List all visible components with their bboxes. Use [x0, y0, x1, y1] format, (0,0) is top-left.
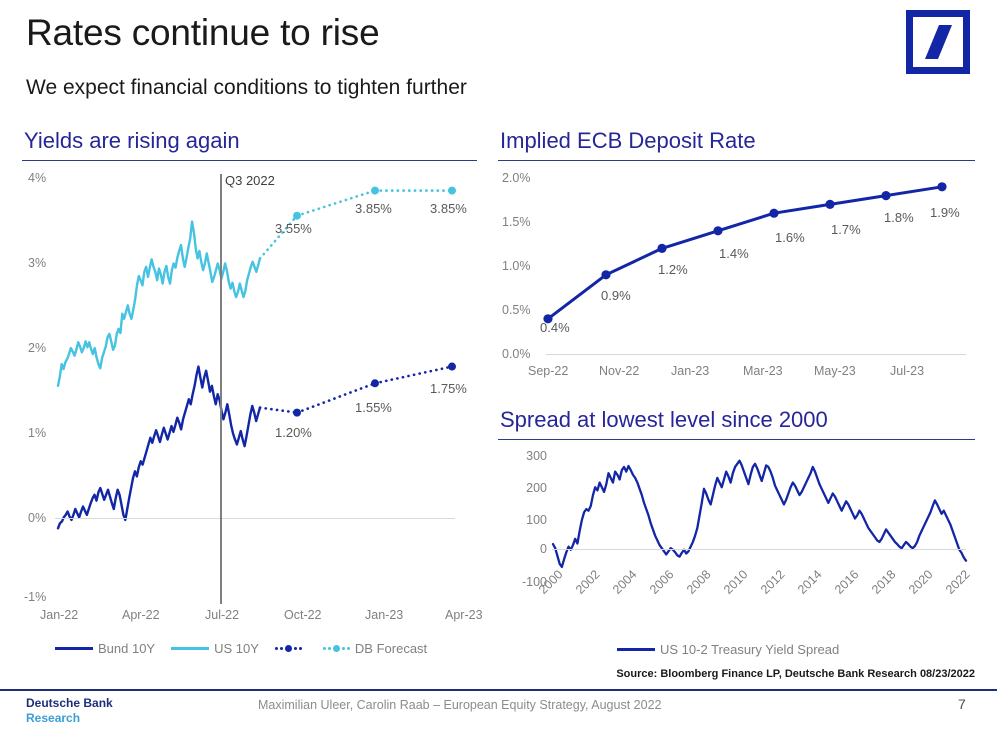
page-subtitle: We expect financial conditions to tighte… [26, 76, 467, 100]
legend-item-bund-forecast[interactable] [275, 645, 307, 652]
legend-swatch-bund-forecast [275, 645, 302, 652]
yields-ytick-neg1: -1% [24, 590, 46, 604]
legend-label-us: US 10Y [214, 641, 259, 656]
ecb-xtick-1: Nov-22 [599, 364, 639, 378]
ecb-label-18: 1.8% [884, 210, 914, 225]
yields-label-us-385b: 3.85% [430, 201, 467, 216]
ecb-xtick-0: Sep-22 [528, 364, 568, 378]
legend-swatch-db-forecast [323, 645, 350, 652]
ecb-xtick-4: May-23 [814, 364, 856, 378]
ecb-zero-gridline [546, 354, 966, 355]
yields-xtick-3: Oct-22 [284, 608, 322, 622]
footer-author-line: Maximilian Uleer, Carolin Raab – Europea… [258, 698, 661, 712]
yields-xtick-0: Jan-22 [40, 608, 78, 622]
spread-chart: 300 200 100 0 -100 2000 2002 2004 2006 2… [490, 439, 997, 654]
legend-item-bund[interactable]: Bund 10Y [55, 641, 155, 656]
yields-xtick-4: Jan-23 [365, 608, 403, 622]
yields-xtick-5: Apr-23 [445, 608, 483, 622]
yields-ytick-2: 2% [28, 341, 46, 355]
yields-ytick-1: 1% [28, 426, 46, 440]
legend-item-db-forecast[interactable]: DB Forecast [323, 641, 427, 656]
ecb-label-17: 1.7% [831, 222, 861, 237]
legend-swatch-bund [55, 647, 93, 650]
ecb-ytick-10: 1.0% [502, 259, 531, 273]
spread-ytick-300: 300 [502, 449, 547, 463]
legend-item-spread[interactable]: US 10-2 Treasury Yield Spread [617, 642, 839, 657]
footer-brand-line1: Deutsche Bank [26, 696, 113, 711]
yields-label-us-385a: 3.85% [355, 201, 392, 216]
yields-ytick-0: 0% [28, 511, 46, 525]
yields-ytick-3: 3% [28, 256, 46, 270]
footer-rule [0, 689, 997, 691]
legend-label-bund: Bund 10Y [98, 641, 155, 656]
spread-panel-heading: Spread at lowest level since 2000 [500, 407, 828, 433]
yields-zero-gridline [55, 518, 455, 519]
ecb-xtick-5: Jul-23 [890, 364, 924, 378]
footer-brand: Deutsche Bank Research [26, 696, 113, 726]
ecb-xtick-3: Mar-23 [743, 364, 783, 378]
yields-q3-vline [220, 174, 222, 604]
ecb-label-04: 0.4% [540, 320, 570, 335]
yields-panel-heading: Yields are rising again [24, 128, 240, 154]
ecb-series-svg [490, 160, 997, 395]
ecb-chart: 2.0% 1.5% 1.0% 0.5% 0.0% 0.4% 0.9% 1.2% … [490, 160, 997, 395]
yields-chart: 4% 3% 2% 1% 0% -1% Q3 2022 3.55% 3.85% 3… [0, 160, 490, 635]
deutsche-bank-logo [908, 12, 968, 72]
ecb-label-19: 1.9% [930, 205, 960, 220]
yields-label-bund-120: 1.20% [275, 425, 312, 440]
spread-zero-gridline [552, 549, 966, 550]
spread-series-svg [490, 439, 997, 654]
spread-ytick-100: 100 [502, 513, 547, 527]
ecb-label-14: 1.4% [719, 246, 749, 261]
yields-series-svg [0, 160, 490, 635]
yields-label-bund-175: 1.75% [430, 381, 467, 396]
ecb-xtick-2: Jan-23 [671, 364, 709, 378]
source-note: Source: Bloomberg Finance LP, Deutsche B… [605, 668, 975, 680]
ecb-ytick-05: 0.5% [502, 303, 531, 317]
yields-label-us-355: 3.55% [275, 221, 312, 236]
ecb-panel-heading: Implied ECB Deposit Rate [500, 128, 756, 154]
ecb-label-12: 1.2% [658, 262, 688, 277]
yields-xtick-2: Jul-22 [205, 608, 239, 622]
footer-page-number: 7 [958, 696, 966, 712]
ecb-label-16: 1.6% [775, 230, 805, 245]
page-title: Rates continue to rise [26, 12, 379, 54]
spread-ytick-200: 200 [502, 481, 547, 495]
legend-label-db-forecast: DB Forecast [355, 641, 427, 656]
yields-q3-annotation: Q3 2022 [225, 173, 275, 188]
yields-xtick-1: Apr-22 [122, 608, 160, 622]
footer-brand-line2: Research [26, 711, 113, 726]
ecb-ytick-15: 1.5% [502, 215, 531, 229]
legend-label-spread: US 10-2 Treasury Yield Spread [660, 642, 839, 657]
yields-ytick-4: 4% [28, 171, 46, 185]
ecb-ytick-20: 2.0% [502, 171, 531, 185]
yields-legend: Bund 10Y US 10Y DB Forecast [55, 641, 427, 656]
ecb-ytick-00: 0.0% [502, 347, 531, 361]
spread-ytick-0: 0 [502, 542, 547, 556]
ecb-label-09: 0.9% [601, 288, 631, 303]
legend-swatch-us [171, 647, 209, 650]
legend-item-us[interactable]: US 10Y [171, 641, 259, 656]
spread-legend: US 10-2 Treasury Yield Spread [617, 642, 839, 657]
legend-swatch-spread [617, 648, 655, 651]
slide-root: Rates continue to rise We expect financi… [0, 0, 997, 732]
yields-label-bund-155: 1.55% [355, 400, 392, 415]
